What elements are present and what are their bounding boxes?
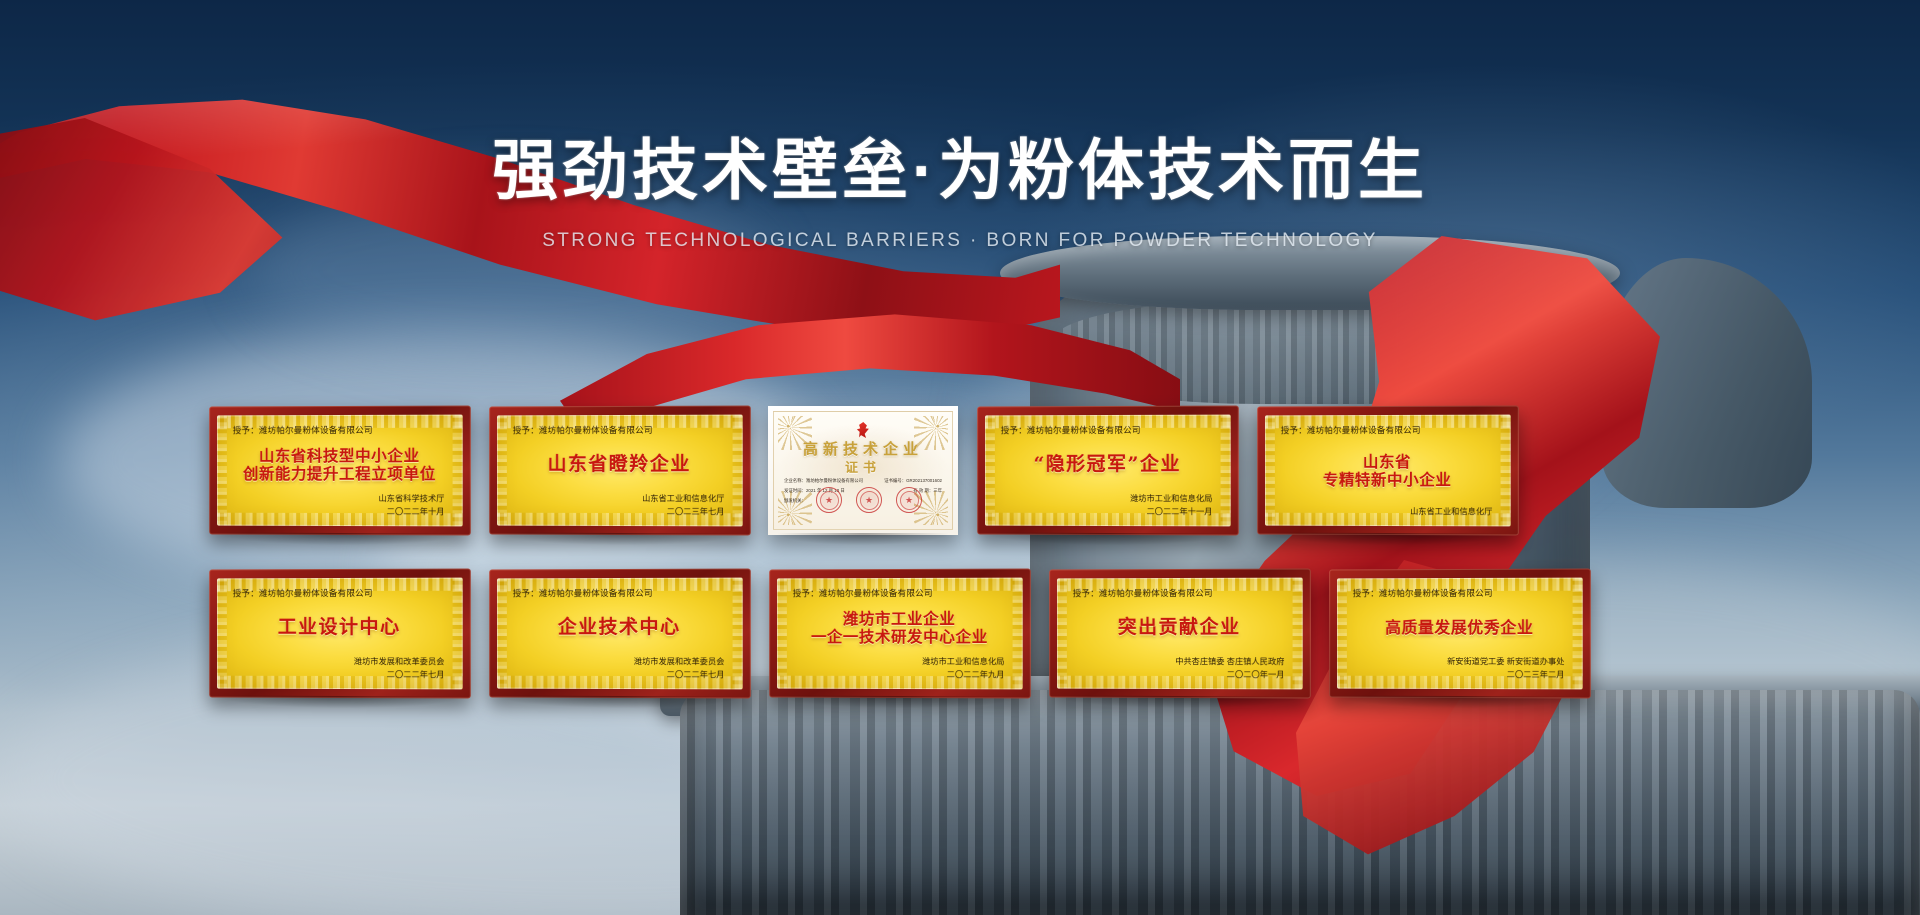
plaque-drop-shadow — [499, 696, 741, 709]
plaque-issuer: 中共杏庄镇委 杏庄镇人民政府 — [1069, 656, 1285, 669]
plaque-issuer: 新安街道党工委 新安街道办事处 — [1349, 656, 1565, 669]
official-seal-icon — [856, 487, 882, 513]
plaque-award-to: 授予：潍坊帕尔曼粉体设备有限公司 — [229, 424, 451, 437]
plaque-award-to: 授予：潍坊帕尔曼粉体设备有限公司 — [509, 424, 731, 437]
plaque-footer: 山东省工业和信息化厅 — [1277, 505, 1499, 518]
plaque-title: 山东省瞪羚企业 — [509, 454, 731, 475]
plaque-footer: 潍坊市工业和信息化局 二〇二二年九月 — [789, 656, 1011, 681]
plaque-drop-shadow — [499, 533, 741, 546]
certificate-title: 高新技术企业 — [774, 438, 952, 459]
page-subtitle: STRONG TECHNOLOGICAL BARRIERS · BORN FOR… — [0, 230, 1920, 252]
plaque-footer: 山东省科学技术厅 二〇二二年十月 — [229, 493, 451, 518]
awards-row-1: 授予：潍坊帕尔曼粉体设备有限公司 山东省科技型中小企业 创新能力提升工程立项单位… — [208, 406, 1718, 535]
hero-text-block: 强劲技术壁垒·为粉体技术而生 STRONG TECHNOLOGICAL BARR… — [0, 132, 1920, 252]
award-plaque[interactable]: 授予：潍坊帕尔曼粉体设备有限公司 山东省瞪羚企业 山东省工业和信息化厅 二〇二三… — [489, 406, 751, 536]
bronze-ding-base — [680, 690, 1920, 915]
plaque-footer: 潍坊市工业和信息化局 二〇二二年十一月 — [997, 493, 1219, 518]
plaque-footer: 新安街道党工委 新安街道办事处 二〇二三年二月 — [1349, 656, 1571, 681]
plaque-date: 二〇二三年七月 — [509, 505, 725, 518]
flame-icon — [856, 422, 870, 438]
award-plaque[interactable]: 授予：潍坊帕尔曼粉体设备有限公司 山东省科技型中小企业 创新能力提升工程立项单位… — [209, 406, 471, 536]
certificate-number-field: 证书编号：GR202137001602 — [884, 478, 942, 484]
plaque-award-to: 授予：潍坊帕尔曼粉体设备有限公司 — [1069, 587, 1291, 600]
page-title: 强劲技术壁垒·为粉体技术而生 — [0, 132, 1920, 210]
plaque-title: 潍坊市工业企业 一企一技术研发中心企业 — [789, 610, 1011, 645]
plaque-silk-edge — [985, 415, 995, 525]
plaque-title-line1: 山东省瞪羚企业 — [509, 454, 731, 475]
certificate-subtitle: 证书 — [774, 457, 952, 476]
plaque-date: 二〇二二年十一月 — [997, 505, 1213, 518]
plaque-date: 二〇二〇年一月 — [1069, 668, 1285, 681]
official-seal-icon — [896, 487, 922, 513]
award-plaque[interactable]: 授予：潍坊帕尔曼粉体设备有限公司 企业技术中心 潍坊市发展和改革委员会 二〇二二… — [489, 569, 751, 699]
plaque-title: 工业设计中心 — [229, 617, 451, 638]
plaque-footer: 潍坊市发展和改革委员会 二〇二二年七月 — [229, 656, 451, 681]
plaque-title-line1: 潍坊市工业企业 — [789, 610, 1011, 628]
plaque-title-line2: 专精特新中小企业 — [1277, 471, 1499, 488]
plaque-silk-edge — [1221, 415, 1231, 527]
plaque-drop-shadow — [1339, 696, 1581, 709]
plaque-drop-shadow — [219, 533, 461, 546]
awards-row-2: 授予：潍坊帕尔曼粉体设备有限公司 工业设计中心 潍坊市发展和改革委员会 二〇二二… — [208, 569, 1718, 698]
plaque-title-line1: 突出贡献企业 — [1069, 617, 1291, 638]
plaque-footer: 山东省工业和信息化厅 二〇二三年七月 — [509, 493, 731, 518]
awards-gallery: 授予：潍坊帕尔曼粉体设备有限公司 山东省科技型中小企业 创新能力提升工程立项单位… — [208, 406, 1718, 698]
plaque-title-line1: 山东省 — [1277, 453, 1499, 470]
plaque-silk-edge — [733, 415, 743, 527]
award-plaque[interactable]: 授予：潍坊帕尔曼粉体设备有限公司 潍坊市工业企业 一企一技术研发中心企业 潍坊市… — [769, 569, 1031, 699]
plaque-date: 二〇二二年七月 — [509, 668, 725, 681]
certificate-authority-field: 颁发机关： — [784, 498, 806, 504]
plaque-silk-edge — [1265, 415, 1275, 525]
plaque-title-line1: 高质量发展优秀企业 — [1349, 619, 1571, 637]
plaque-issuer: 山东省科学技术厅 — [229, 493, 445, 506]
plaque-award-to: 授予：潍坊帕尔曼粉体设备有限公司 — [509, 587, 731, 600]
official-seal-icon — [816, 487, 842, 513]
bronze-ding-pattern-band — [1052, 300, 1572, 404]
plaque-award-to: 授予：潍坊帕尔曼粉体设备有限公司 — [1277, 424, 1499, 437]
plaque-issuer: 山东省工业和信息化厅 — [509, 493, 725, 506]
plaque-date: 二〇二二年九月 — [789, 668, 1005, 681]
plaque-award-to: 授予：潍坊帕尔曼粉体设备有限公司 — [997, 424, 1219, 437]
plaque-footer: 潍坊市发展和改革委员会 二〇二二年七月 — [509, 656, 731, 681]
plaque-silk-edge — [1013, 578, 1023, 690]
plaque-title-line1: “隐形冠军”企业 — [997, 454, 1219, 475]
certificate-company-field: 企业名称：潍坊帕尔曼粉体设备有限公司 — [784, 478, 863, 484]
plaque-title: 企业技术中心 — [509, 617, 731, 638]
plaque-drop-shadow — [987, 533, 1229, 546]
plaque-silk-edge — [1573, 578, 1583, 690]
plaque-award-to: 授予：潍坊帕尔曼粉体设备有限公司 — [229, 587, 451, 600]
plaque-silk-edge — [453, 415, 463, 527]
plaque-silk-edge — [453, 578, 463, 690]
plaque-silk-edge — [777, 578, 787, 688]
plaque-title-line1: 企业技术中心 — [509, 617, 731, 638]
plaque-title-line2: 一企一技术研发中心企业 — [789, 628, 1011, 645]
plaque-title: 山东省 专精特新中小企业 — [1277, 453, 1499, 488]
award-plaque[interactable]: 授予：潍坊帕尔曼粉体设备有限公司 高质量发展优秀企业 新安街道党工委 新安街道办… — [1329, 569, 1591, 699]
plaque-silk-edge — [1293, 578, 1303, 690]
hero-banner: 强劲技术壁垒·为粉体技术而生 STRONG TECHNOLOGICAL BARR… — [0, 0, 1920, 915]
award-plaque[interactable]: 授予：潍坊帕尔曼粉体设备有限公司 “隐形冠军”企业 潍坊市工业和信息化局 二〇二… — [977, 406, 1239, 536]
plaque-silk-edge — [1337, 578, 1347, 688]
plaque-title-line2: 创新能力提升工程立项单位 — [229, 465, 451, 482]
plaque-title: 高质量发展优秀企业 — [1349, 619, 1571, 637]
plaque-silk-edge — [1057, 578, 1067, 688]
plaque-silk-edge — [497, 578, 507, 688]
plaque-title: “隐形冠军”企业 — [997, 454, 1219, 475]
certificate-drop-shadow — [778, 533, 948, 545]
plaque-drop-shadow — [1059, 696, 1301, 709]
plaque-award-to: 授予：潍坊帕尔曼粉体设备有限公司 — [789, 587, 1011, 600]
plaque-date: 二〇二三年二月 — [1349, 668, 1565, 681]
plaque-date: 二〇二二年七月 — [229, 668, 445, 681]
award-plaque[interactable]: 授予：潍坊帕尔曼粉体设备有限公司 工业设计中心 潍坊市发展和改革委员会 二〇二二… — [209, 569, 471, 699]
plaque-issuer: 潍坊市工业和信息化局 — [997, 493, 1213, 506]
plaque-issuer: 潍坊市工业和信息化局 — [789, 656, 1005, 669]
plaque-silk-edge — [1501, 415, 1511, 527]
plaque-silk-edge — [733, 578, 743, 690]
plaque-drop-shadow — [219, 696, 461, 709]
plaque-date: 二〇二二年十月 — [229, 505, 445, 518]
plaque-title-line1: 工业设计中心 — [229, 617, 451, 638]
plaque-footer: 中共杏庄镇委 杏庄镇人民政府 二〇二〇年一月 — [1069, 656, 1291, 681]
award-plaque[interactable]: 授予：潍坊帕尔曼粉体设备有限公司 山东省 专精特新中小企业 山东省工业和信息化厅 — [1257, 406, 1519, 536]
wheat-ornament-icon — [778, 491, 812, 525]
award-plaque[interactable]: 授予：潍坊帕尔曼粉体设备有限公司 突出贡献企业 中共杏庄镇委 杏庄镇人民政府 二… — [1049, 569, 1311, 699]
plaque-silk-edge — [217, 415, 227, 525]
plaque-award-to: 授予：潍坊帕尔曼粉体设备有限公司 — [1349, 587, 1571, 600]
plaque-drop-shadow — [1267, 533, 1509, 546]
plaque-issuer: 潍坊市发展和改革委员会 — [229, 656, 445, 669]
plaque-title: 突出贡献企业 — [1069, 617, 1291, 638]
plaque-issuer: 潍坊市发展和改革委员会 — [509, 656, 725, 669]
plaque-silk-edge — [497, 415, 507, 525]
high-tech-enterprise-certificate[interactable]: 高新技术企业 证书 企业名称：潍坊帕尔曼粉体设备有限公司 发证时间：2021 年… — [768, 406, 958, 535]
plaque-issuer: 山东省工业和信息化厅 — [1277, 505, 1493, 518]
plaque-silk-edge — [217, 578, 227, 688]
plaque-drop-shadow — [779, 696, 1021, 709]
plaque-title-line1: 山东省科技型中小企业 — [229, 447, 451, 465]
plaque-title: 山东省科技型中小企业 创新能力提升工程立项单位 — [229, 447, 451, 482]
